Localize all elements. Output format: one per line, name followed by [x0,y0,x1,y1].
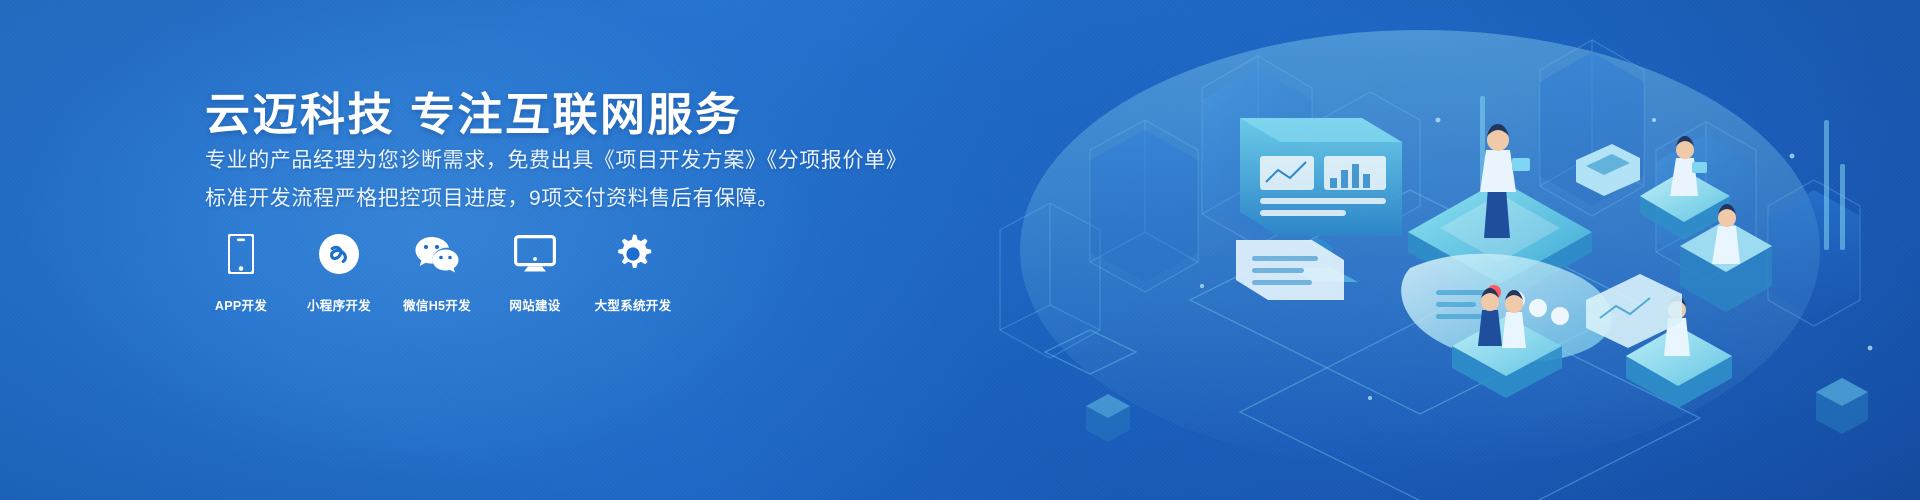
service-item-website[interactable]: 网站建设 [499,232,571,314]
service-label: 网站建设 [509,295,560,314]
service-label: 小程序开发 [307,295,371,314]
wechat-icon [415,232,459,276]
service-label: APP开发 [215,295,267,314]
subtitle-line-2: 标准开发流程严格把控项目进度，9项交付资料售后有保障。 [205,182,779,212]
service-list: APP开发 小程序开发 [205,232,669,314]
subtitle-line-1: 专业的产品经理为您诊断需求，免费出具《项目开发方案》《分项报价单》 [205,144,907,174]
service-item-large-system[interactable]: 大型系统开发 [597,232,669,314]
mini-program-icon [317,232,361,276]
service-label: 微信H5开发 [403,295,471,314]
monitor-icon [513,232,557,276]
gear-icon [611,232,655,276]
page-title: 云迈科技 专注互联网服务 [205,78,743,143]
hero-illustration [940,0,1920,500]
service-item-mini-program[interactable]: 小程序开发 [303,232,375,314]
service-item-app[interactable]: APP开发 [205,232,277,314]
service-label: 大型系统开发 [595,295,672,314]
hero-copy: 云迈科技 专注互联网服务 专业的产品经理为您诊断需求，免费出具《项目开发方案》《… [205,0,965,500]
hero-banner: 云迈科技 专注互联网服务 专业的产品经理为您诊断需求，免费出具《项目开发方案》《… [0,0,1920,500]
service-item-wechat[interactable]: 微信H5开发 [401,232,473,314]
mobile-phone-icon [219,232,263,276]
